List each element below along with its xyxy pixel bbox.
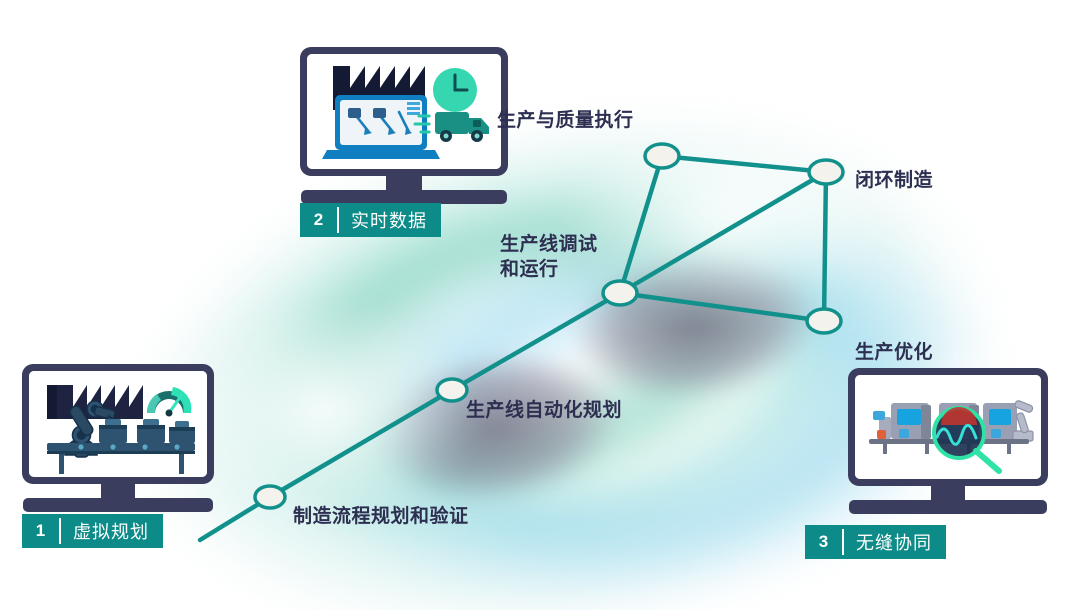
badge-label-2: 实时数据 — [339, 203, 441, 237]
badge-seamless-collaboration[interactable]: 3 无缝协同 — [805, 525, 946, 559]
network-edge-exec-to-closed-loop — [662, 156, 826, 172]
card-title-production-optimization: 生产优化 — [855, 337, 933, 364]
network-edge-process-planning-to-line-automation — [270, 390, 452, 497]
card-seamless-collaboration[interactable] — [848, 368, 1048, 514]
monitor-base-2 — [301, 190, 507, 204]
monitor-screen-2 — [307, 54, 501, 169]
monitor-screen-3 — [855, 375, 1041, 479]
label-process-planning: 制造流程规划和验证 — [293, 504, 469, 529]
monitor-neck-2 — [386, 176, 422, 190]
label-line-automation: 生产线自动化规划 — [466, 398, 622, 423]
monitor-frame-2 — [300, 47, 508, 176]
card-realtime-data[interactable] — [300, 47, 508, 204]
badge-label-3: 无缝协同 — [844, 525, 946, 559]
production-line-magnifier-analytics-icon — [855, 375, 1041, 479]
network-edge-group — [200, 156, 826, 540]
badge-virtual-planning[interactable]: 1 虚拟规划 — [22, 514, 163, 548]
network-node-line-automation[interactable] — [437, 379, 467, 401]
label-line-commissioning: 生产线调试 和运行 — [500, 232, 598, 282]
network-node-exec[interactable] — [645, 144, 679, 168]
badge-realtime-data[interactable]: 2 实时数据 — [300, 203, 441, 237]
label-closed-loop: 闭环制造 — [855, 168, 933, 193]
badge-label-1: 虚拟规划 — [61, 514, 163, 548]
network-edge-closed-loop-to-optimization — [824, 172, 826, 321]
network-node-closed-loop[interactable] — [809, 160, 843, 184]
card-title-production-quality: 生产与质量执行 — [497, 105, 634, 132]
laptop-logistics-truck-clock-icon — [307, 54, 501, 169]
network-edge-hub-to-optimization — [620, 293, 824, 321]
network-node-process-planning[interactable] — [255, 486, 285, 508]
monitor-neck-3 — [931, 486, 965, 500]
network-node-hub[interactable] — [603, 281, 637, 305]
monitor-base-1 — [23, 498, 213, 512]
badge-number-2: 2 — [300, 203, 337, 237]
monitor-neck-1 — [101, 484, 135, 498]
monitor-base-3 — [849, 500, 1047, 514]
monitor-frame-3 — [848, 368, 1048, 486]
monitor-frame-1 — [22, 364, 214, 484]
badge-number-1: 1 — [22, 514, 59, 548]
card-virtual-planning[interactable] — [22, 364, 214, 512]
network-node-optimization[interactable] — [807, 309, 841, 333]
factory-robot-conveyor-gauge-icon — [29, 371, 207, 477]
monitor-screen-1 — [29, 371, 207, 477]
network-edge-line-automation-to-hub — [452, 293, 620, 390]
diagram-canvas: 生产线调试 和运行闭环制造生产线自动化规划制造流程规划和验证 — [0, 0, 1080, 610]
badge-number-3: 3 — [805, 525, 842, 559]
